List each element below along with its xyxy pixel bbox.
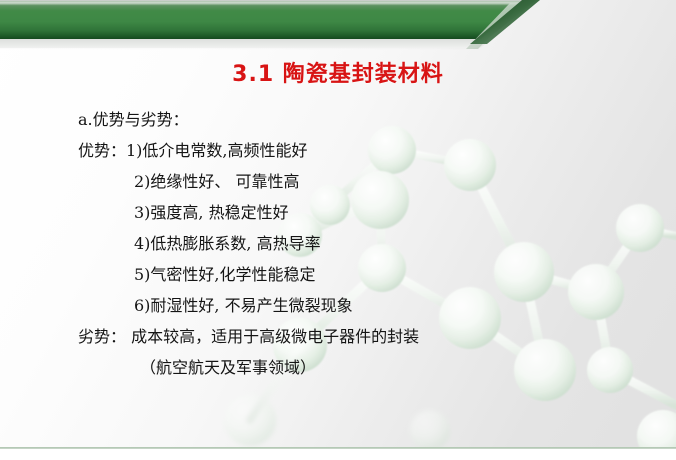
body-line-7: 6)耐湿性好, 不易产生微裂现象 [78, 290, 598, 321]
body-line-3: 2)绝缘性好、 可靠性高 [78, 166, 598, 197]
header-banner [0, 0, 676, 52]
body-line-8: 劣势： 成本较高，适用于高级微电子器件的封装 [78, 321, 598, 352]
body-line-6: 5)气密性好,化学性能稳定 [78, 259, 598, 290]
slide-canvas: 3.1 陶瓷基封装材料 a.优势与劣势： 优势：1)低介电常数,高频性能好 2)… [0, 0, 676, 460]
page-title: 3.1 陶瓷基封装材料 [0, 56, 676, 88]
slide-body: a.优势与劣势： 优势：1)低介电常数,高频性能好 2)绝缘性好、 可靠性高 3… [78, 104, 598, 383]
body-line-9: （航空航天及军事领域） [78, 352, 598, 383]
banner-green-bar [0, 1, 676, 39]
body-line-1: a.优势与劣势： [78, 104, 598, 135]
body-line-2: 优势：1)低介电常数,高频性能好 [78, 135, 598, 166]
body-line-5: 4)低热膨胀系数, 高热导率 [78, 228, 598, 259]
body-line-4: 3)强度高, 热稳定性好 [78, 197, 598, 228]
footer-fill [0, 449, 676, 460]
